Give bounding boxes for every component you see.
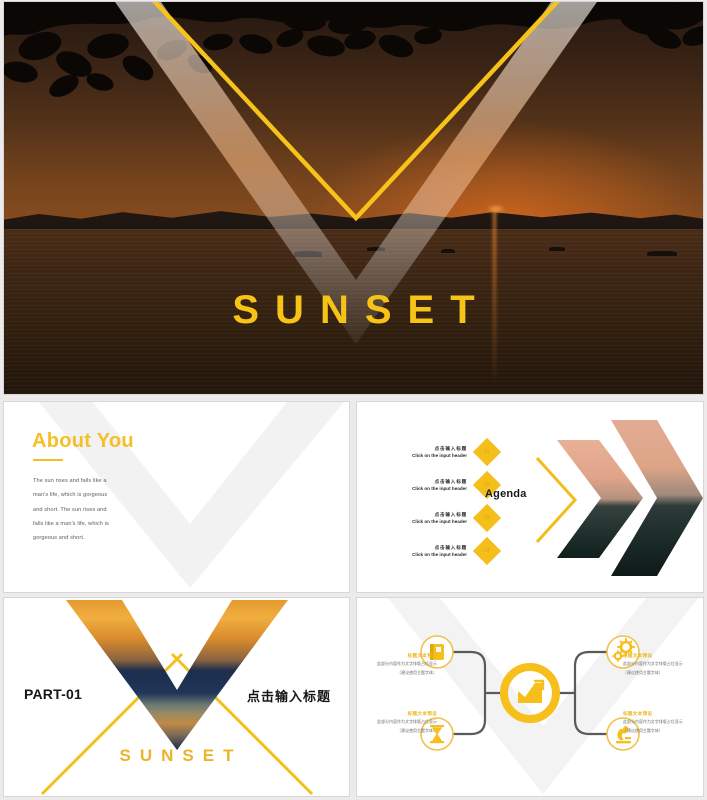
part-label-right: 点击输入标题 bbox=[247, 686, 331, 705]
agenda-item-list: 点击输入标题 Click on the input header 01 点击输入… bbox=[393, 442, 493, 574]
agenda-item-title-cn: 点击输入标题 bbox=[389, 446, 467, 453]
about-body-line: falls like a man's life, which is bbox=[33, 517, 138, 531]
agenda-item[interactable]: 点击输入标题 Click on the input header 01 bbox=[393, 442, 493, 475]
slide-agenda[interactable]: 点击输入标题 Click on the input header 01 点击输入… bbox=[357, 402, 703, 592]
agenda-item-title-en: Click on the input header bbox=[389, 453, 467, 460]
agenda-item-number: 04 bbox=[484, 548, 490, 554]
diagram-node-desc: （建议使用主题字体） bbox=[623, 728, 687, 734]
part-label-left: PART-01 bbox=[24, 686, 82, 702]
agenda-item-title-en: Click on the input header bbox=[389, 486, 467, 493]
diagram-node-title: 标题文本预设 bbox=[373, 710, 437, 717]
diagram-node-desc: 此部分内容作为文字排版占位显示 bbox=[373, 661, 437, 667]
diagram-node-title: 标题文本预设 bbox=[623, 710, 687, 717]
agenda-diamond-badge[interactable]: 04 bbox=[473, 537, 501, 565]
agenda-item[interactable]: 点击输入标题 Click on the input header 03 bbox=[393, 508, 493, 541]
diagram-node-title: 标题文本预设 bbox=[373, 652, 437, 659]
diagram-node-label: 标题文本预设 此部分内容作为文字排版占位显示 （建议使用主题字体） bbox=[373, 710, 437, 734]
agenda-item-text: 点击输入标题 Click on the input header bbox=[389, 479, 467, 493]
about-title: About You bbox=[32, 430, 134, 453]
about-body-line: and short. The sun rises and bbox=[33, 503, 138, 517]
diagram-node-label: 标题文本预设 此部分内容作为文字排版占位显示 （建议使用主题字体） bbox=[623, 652, 687, 676]
diagram-node-label: 标题文本预设 此部分内容作为文字排版占位显示 （建议使用主题字体） bbox=[373, 652, 437, 676]
growth-chart-icon bbox=[518, 681, 543, 703]
agenda-item-title-cn: 点击输入标题 bbox=[389, 479, 467, 486]
hero-yellow-chevron bbox=[4, 2, 703, 394]
diagram-graphic bbox=[385, 628, 675, 758]
diagram-node-desc: 此部分内容作为文字排版占位显示 bbox=[623, 661, 687, 667]
agenda-item-title-en: Click on the input header bbox=[389, 552, 467, 559]
about-body-line: The sun rises and falls like a bbox=[33, 474, 138, 488]
agenda-item-text: 点击输入标题 Click on the input header bbox=[389, 545, 467, 559]
agenda-diamond-badge[interactable]: 03 bbox=[473, 504, 501, 532]
agenda-item-title-cn: 点击输入标题 bbox=[389, 512, 467, 519]
slide-part-01[interactable]: PART-01 点击输入标题 SUNSET bbox=[4, 598, 349, 796]
agenda-item[interactable]: 点击输入标题 Click on the input header 04 bbox=[393, 541, 493, 574]
agenda-heading: Agenda bbox=[485, 488, 527, 500]
about-title-rule bbox=[33, 459, 63, 461]
diagram-node-title: 标题文本预设 bbox=[623, 652, 687, 659]
agenda-item-number: 03 bbox=[484, 515, 490, 521]
agenda-chevron-graphic bbox=[527, 414, 703, 582]
slide-deck-preview: SUNSET About You The sun rises and falls… bbox=[0, 0, 707, 800]
diagram-node-desc: 此部分内容作为文字排版占位显示 bbox=[623, 719, 687, 725]
diagram-node-label: 标题文本预设 此部分内容作为文字排版占位显示 （建议使用主题字体） bbox=[623, 710, 687, 734]
diagram-node-desc: （建议使用主题字体） bbox=[623, 670, 687, 676]
part-footer-sunset: SUNSET bbox=[4, 746, 349, 766]
agenda-item-text: 点击输入标题 Click on the input header bbox=[389, 512, 467, 526]
agenda-item-title-en: Click on the input header bbox=[389, 519, 467, 526]
agenda-diamond-badge[interactable]: 01 bbox=[473, 438, 501, 466]
agenda-item[interactable]: 点击输入标题 Click on the input header 02 bbox=[393, 475, 493, 508]
diagram-node-desc: 此部分内容作为文字排版占位显示 bbox=[373, 719, 437, 725]
slide-hero[interactable]: SUNSET bbox=[4, 2, 703, 394]
diagram-node-desc: （建议使用主题字体） bbox=[373, 670, 437, 676]
agenda-item-number: 01 bbox=[484, 449, 490, 455]
hero-photo bbox=[4, 2, 703, 394]
agenda-item-text: 点击输入标题 Click on the input header bbox=[389, 446, 467, 460]
diagram-node-desc: （建议使用主题字体） bbox=[373, 728, 437, 734]
about-body-line: man's life, which is gorgeous bbox=[33, 488, 138, 502]
hero-title: SUNSET bbox=[4, 290, 703, 330]
slide-about-you[interactable]: About You The sun rises and falls like a… bbox=[4, 402, 349, 592]
about-body-line: gorgeous and short. bbox=[33, 531, 138, 545]
slide-diagram[interactable]: 标题文本预设 此部分内容作为文字排版占位显示 （建议使用主题字体） 标题文本预设… bbox=[357, 598, 703, 796]
about-body: The sun rises and falls like a man's lif… bbox=[33, 474, 138, 545]
agenda-item-title-cn: 点击输入标题 bbox=[389, 545, 467, 552]
